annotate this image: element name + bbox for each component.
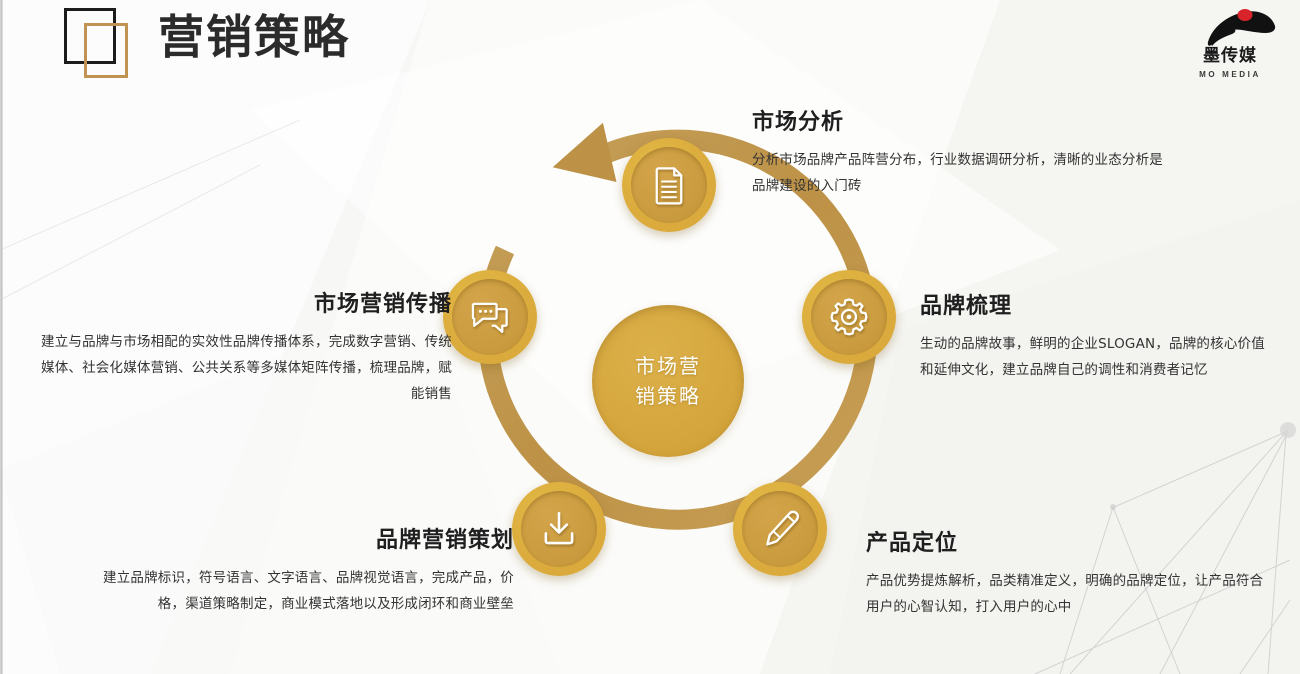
overlapping-squares-logo-icon xyxy=(58,8,148,76)
page-title: 营销策略 xyxy=(158,8,350,66)
block-title-product-position: 产品定位 xyxy=(866,525,1266,557)
block-market-comm: 市场营销传播 建立与品牌与市场相配的实效性品牌传播体系，完成数字营销、传统媒体、… xyxy=(30,286,452,407)
block-market-analysis: 市场分析 分析市场品牌产品阵营分布，行业数据调研分析，清晰的业态分析是品牌建设的… xyxy=(752,104,1172,199)
center-label: 市场营 销策略 xyxy=(635,351,701,411)
center-circle: 市场营 销策略 xyxy=(592,305,744,457)
node-market-comm[interactable] xyxy=(443,270,537,364)
node-brand-combing[interactable] xyxy=(802,270,896,364)
block-title-market-comm: 市场营销传播 xyxy=(30,286,452,318)
chat-bubbles-icon xyxy=(469,296,511,338)
logo-square-gold xyxy=(84,23,128,78)
block-body-market-analysis: 分析市场品牌产品阵营分布，行业数据调研分析，清晰的业态分析是品牌建设的入门砖 xyxy=(752,147,1172,199)
gear-icon xyxy=(828,296,870,338)
block-body-market-comm: 建立与品牌与市场相配的实效性品牌传播体系，完成数字营销、传统媒体、社会化媒体营销… xyxy=(30,329,452,407)
block-title-market-analysis: 市场分析 xyxy=(752,104,1172,136)
company-logo: 墨传媒 MO MEDIA xyxy=(1182,6,1278,80)
download-inbox-icon xyxy=(538,508,580,550)
node-market-analysis[interactable] xyxy=(622,138,716,232)
header: 营销策略 墨传媒 MO MEDIA xyxy=(0,0,1300,95)
pencil-icon xyxy=(759,508,801,550)
block-product-position: 产品定位 产品优势提炼解析，品类精准定义，明确的品牌定位，让产品符合用户的心智认… xyxy=(866,525,1266,620)
left-edge-rule xyxy=(0,0,3,674)
block-body-brand-plan: 建立品牌标识，符号语言、文字语言、品牌视觉语言，完成产品，价格，渠道策略制定，商… xyxy=(96,565,514,617)
block-body-product-position: 产品优势提炼解析，品类精准定义，明确的品牌定位，让产品符合用户的心智认知，打入用… xyxy=(866,568,1266,620)
document-icon xyxy=(648,164,690,206)
block-brand-plan: 品牌营销策划 建立品牌标识，符号语言、文字语言、品牌视觉语言，完成产品，价格，渠… xyxy=(96,522,514,617)
company-logo-name: 墨传媒 xyxy=(1182,41,1278,66)
block-title-brand-plan: 品牌营销策划 xyxy=(96,522,514,554)
block-body-brand-combing: 生动的品牌故事，鲜明的企业SLOGAN，品牌的核心价值和延伸文化，建立品牌自己的… xyxy=(920,331,1270,383)
block-brand-combing: 品牌梳理 生动的品牌故事，鲜明的企业SLOGAN，品牌的核心价值和延伸文化，建立… xyxy=(920,288,1270,383)
node-brand-plan[interactable] xyxy=(512,482,606,576)
block-title-brand-combing: 品牌梳理 xyxy=(920,288,1270,320)
company-logo-subtitle: MO MEDIA xyxy=(1182,70,1278,79)
node-product-position[interactable] xyxy=(733,482,827,576)
